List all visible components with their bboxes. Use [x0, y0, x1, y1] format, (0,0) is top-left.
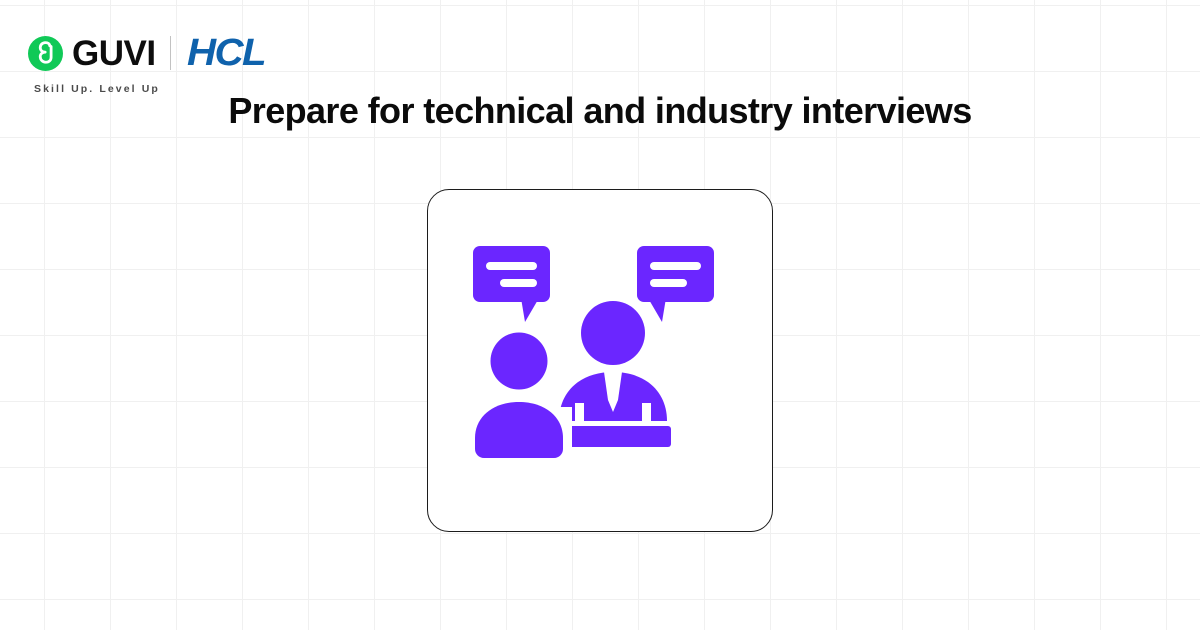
- illustration-card: [427, 189, 773, 532]
- hcl-wordmark[interactable]: HCL: [187, 34, 265, 72]
- candidate-person-icon: [471, 328, 572, 458]
- brand-divider: [170, 36, 171, 70]
- page-root: GUVI HCL Skill Up. Level Up Prepare for …: [0, 0, 1200, 630]
- guvi-wordmark: GUVI: [72, 36, 156, 71]
- interview-illustration-icon: [471, 246, 729, 476]
- speech-bubble-left-icon: [473, 246, 550, 322]
- page-title: Prepare for technical and industry inter…: [0, 88, 1200, 133]
- guvi-logo[interactable]: GUVI: [28, 36, 156, 71]
- brand-logo-row: GUVI HCL: [28, 32, 260, 74]
- guvi-g-mark-icon: [28, 36, 63, 71]
- speech-bubble-right-icon: [637, 246, 714, 322]
- brand-header: GUVI HCL Skill Up. Level Up: [28, 32, 260, 95]
